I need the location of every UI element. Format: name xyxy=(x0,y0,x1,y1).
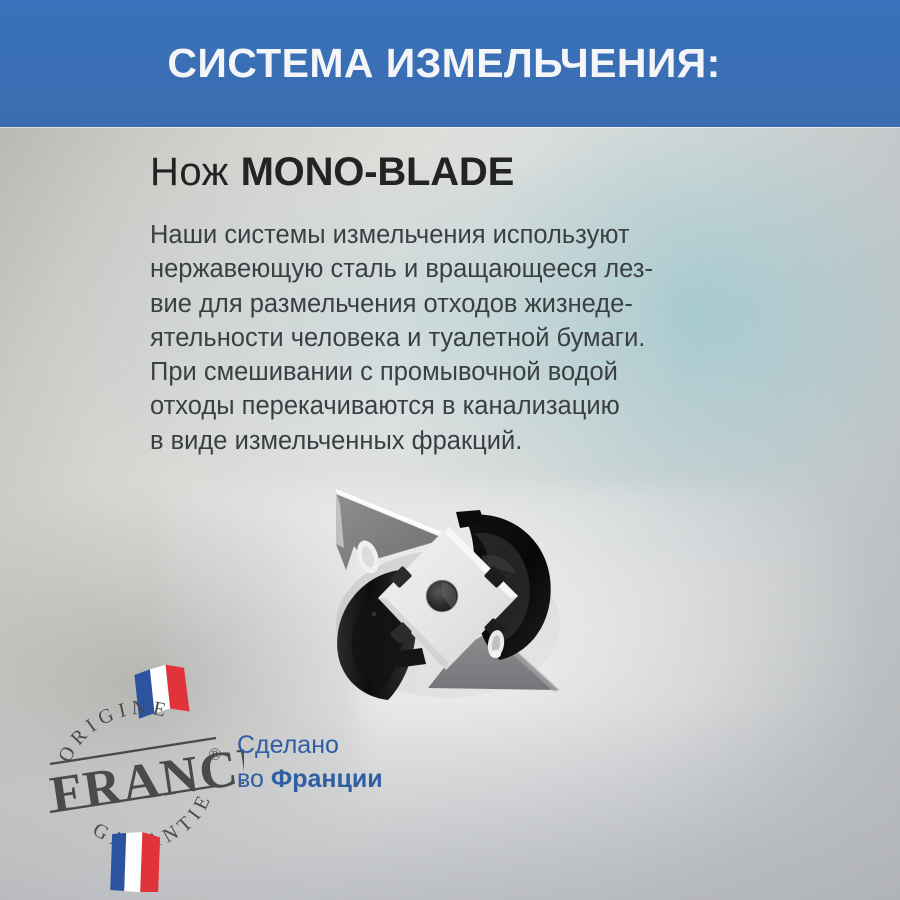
rotating-blade-icon xyxy=(296,474,596,702)
product-name-brand: MONO-BLADE xyxy=(241,150,515,194)
description-line: отходы перекачиваются в канализацию xyxy=(150,389,790,423)
product-infographic-poster: СИСТЕМА ИЗМЕЛЬЧЕНИЯ: Нож MONO-BLADE Наши… xyxy=(0,0,900,900)
made-in-preposition: во xyxy=(237,765,271,793)
description-line: ятельности человека и туалетной бумаги. xyxy=(150,321,790,355)
content-block: Нож MONO-BLADE Наши системы измельчения … xyxy=(150,152,790,458)
made-in-country: Франции xyxy=(271,765,383,793)
origine-france-garantie-logo: ORIGINE FRANCE ® GARANTIE xyxy=(44,660,244,892)
description-line: нержавеющую сталь и вращающееся лез- xyxy=(150,252,790,286)
description-line: Наши системы измельчения используют xyxy=(150,218,790,252)
french-flag-bottom-icon xyxy=(108,830,162,892)
description-line: в виде измельченных фракций. xyxy=(150,424,790,458)
blade-product-image xyxy=(296,474,596,702)
page-title: СИСТЕМА ИЗМЕЛЬЧЕНИЯ: xyxy=(0,0,900,127)
product-name-prefix: Нож xyxy=(150,150,241,194)
made-in-line-2: во Франции xyxy=(237,763,383,797)
description-line: При смешивании с промывочной водой xyxy=(150,355,790,389)
made-in-line-1: Сделано xyxy=(237,729,383,763)
product-description: Наши системы измельчения используют нерж… xyxy=(150,218,790,458)
product-name-heading: Нож MONO-BLADE xyxy=(150,152,790,192)
certification-badge-icon: ORIGINE FRANCE ® GARANTIE xyxy=(44,660,244,892)
made-in-france-caption: Сделано во Франции xyxy=(237,729,383,797)
description-line: вие для размельчения отходов жизнеде- xyxy=(150,287,790,321)
